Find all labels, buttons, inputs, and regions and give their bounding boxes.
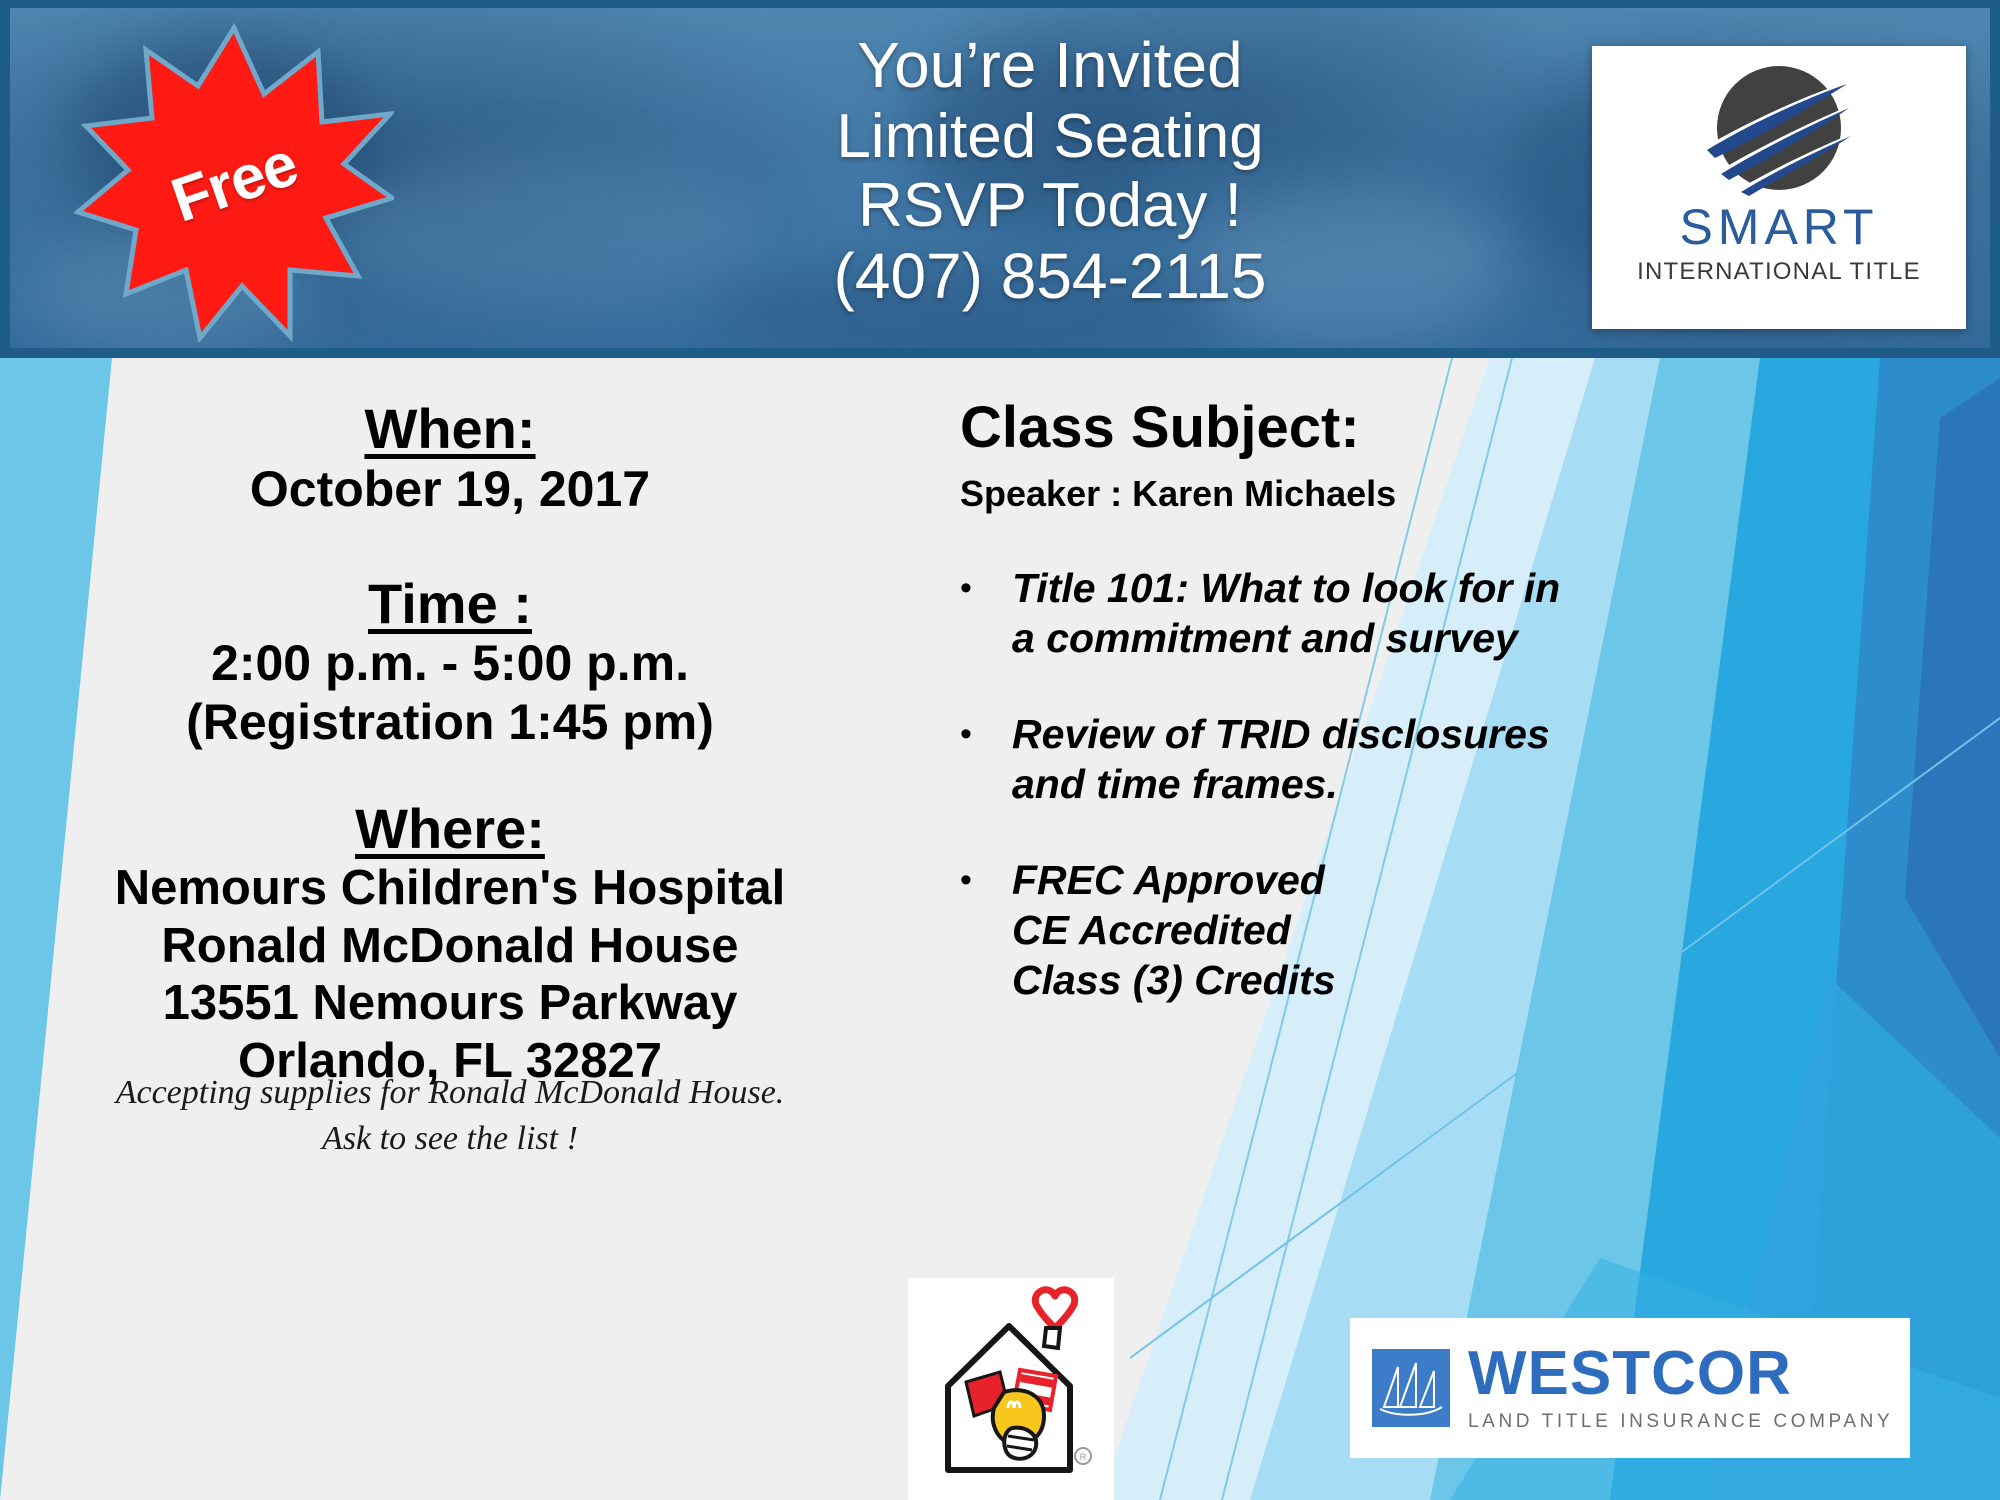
globe-swoosh-icon — [1695, 56, 1863, 206]
speaker-name: Speaker : Karen Michaels — [960, 473, 1720, 515]
westcor-logo-tagline: LAND TITLE INSURANCE COMPANY — [1468, 1411, 1893, 1433]
supplies-note: Accepting supplies for Ronald McDonald H… — [10, 1070, 890, 1162]
headline-phone-number: (407) 854-2115 — [530, 241, 1570, 313]
topic-line: FREC Approved — [1012, 855, 1336, 905]
bullet-dot-icon: • — [960, 709, 1012, 809]
time-value: 2:00 p.m. - 5:00 p.m. — [0, 634, 900, 693]
headline-line-3: RSVP Today ! — [530, 171, 1570, 240]
rmh-house-heart-hands-icon: R — [908, 1278, 1114, 1500]
list-item: • FREC Approved CE Accredited Class (3) … — [960, 855, 1720, 1005]
smart-international-title-logo: SMART INTERNATIONAL TITLE — [1592, 46, 1966, 329]
topic-line: Class (3) Credits — [1012, 955, 1336, 1005]
westcor-logo-name: WESTCOR — [1468, 1343, 1893, 1405]
headline-line-2: Limited Seating — [530, 102, 1570, 171]
sailboat-icon — [1372, 1349, 1450, 1427]
smart-logo-name: SMART — [1679, 202, 1878, 252]
topic-line: and time frames. — [1012, 759, 1550, 809]
svg-text:R: R — [1080, 1452, 1087, 1462]
topic-line: CE Accredited — [1012, 905, 1336, 955]
registration-note: (Registration 1:45 pm) — [0, 693, 900, 752]
when-heading: When: — [0, 398, 900, 460]
bullet-dot-icon: • — [960, 563, 1012, 663]
class-subject-column: Class Subject: Speaker : Karen Michaels … — [960, 398, 1720, 1051]
banner-headline: You’re Invited Limited Seating RSVP Toda… — [530, 30, 1570, 312]
where-heading: Where: — [0, 798, 900, 860]
class-subject-heading: Class Subject: — [960, 398, 1720, 459]
topic-text: FREC Approved CE Accredited Class (3) Cr… — [1012, 855, 1336, 1005]
topic-line: Review of TRID disclosures — [1012, 709, 1550, 759]
when-value: October 19, 2017 — [0, 460, 900, 519]
topic-text: Review of TRID disclosures and time fram… — [1012, 709, 1550, 809]
venue-building: Ronald McDonald House — [0, 918, 900, 976]
topic-line: a commitment and survey — [1012, 613, 1560, 663]
free-badge: Free — [74, 22, 394, 342]
header-banner: Free You’re Invited Limited Seating RSVP… — [0, 0, 2000, 358]
bullet-dot-icon: • — [960, 855, 1012, 1005]
list-item: • Review of TRID disclosures and time fr… — [960, 709, 1720, 809]
flyer-page: Free You’re Invited Limited Seating RSVP… — [0, 0, 2000, 1500]
list-item: • Title 101: What to look for in a commi… — [960, 563, 1720, 663]
supplies-note-line-1: Accepting supplies for Ronald McDonald H… — [10, 1070, 890, 1116]
supplies-note-line-2: Ask to see the list ! — [10, 1116, 890, 1162]
venue-name: Nemours Children's Hospital — [0, 860, 900, 918]
westcor-logo: WESTCOR LAND TITLE INSURANCE COMPANY — [1350, 1318, 1910, 1458]
class-topics-list: • Title 101: What to look for in a commi… — [960, 563, 1720, 1005]
time-heading: Time : — [0, 573, 900, 635]
event-details-column: When: October 19, 2017 Time : 2:00 p.m. … — [0, 398, 900, 1091]
topic-line: Title 101: What to look for in — [1012, 563, 1560, 613]
headline-line-1: You’re Invited — [530, 30, 1570, 102]
ronald-mcdonald-house-logo: R — [908, 1278, 1114, 1500]
venue-street: 13551 Nemours Parkway — [0, 975, 900, 1033]
smart-logo-tagline: INTERNATIONAL TITLE — [1637, 258, 1921, 286]
topic-text: Title 101: What to look for in a commitm… — [1012, 563, 1560, 663]
